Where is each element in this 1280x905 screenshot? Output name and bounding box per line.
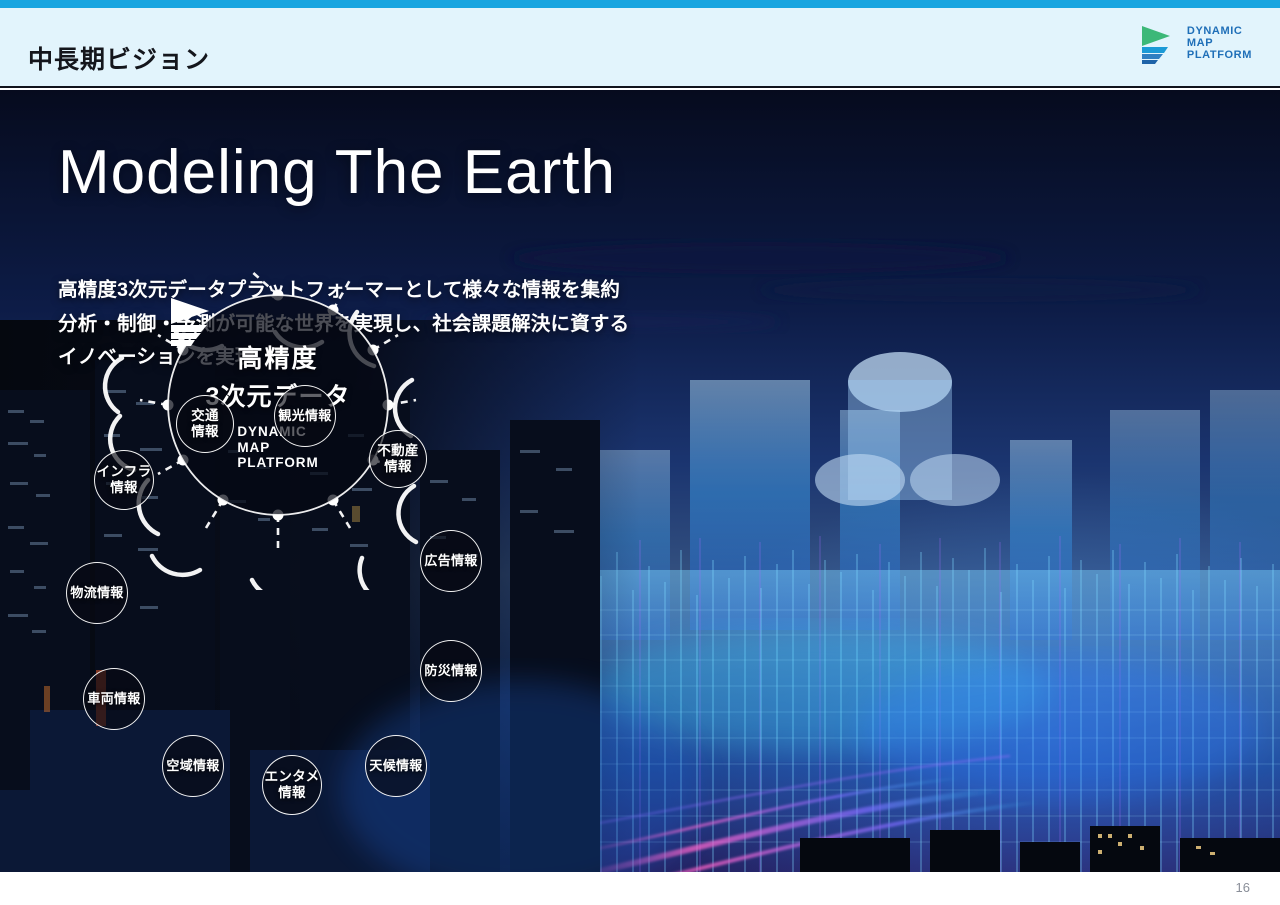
- ecosystem-diagram: 高精度 3次元データ DYNAMIC MAP PLATFORM: [0, 90, 560, 590]
- node-entertainment[interactable]: エンタメ情報: [262, 755, 322, 815]
- node-vehicle[interactable]: 車両情報: [83, 668, 145, 730]
- node-infrastructure-label: インフラ情報: [97, 464, 152, 496]
- hero-image: Modeling The Earth 高精度3次元データプラットフォーマーとして…: [0, 90, 1280, 872]
- node-traffic[interactable]: 交通情報: [176, 395, 234, 453]
- slide: 中長期ビジョン DYNAMIC MAP PLATFORM: [0, 0, 1280, 905]
- hub-brand-line-3: PLATFORM: [237, 455, 318, 471]
- slide-footer: [0, 872, 1280, 905]
- logo-mark-icon: [1140, 24, 1178, 64]
- page-number: 16: [1236, 880, 1250, 895]
- node-advertising-label: 広告情報: [424, 553, 477, 568]
- logo-line-3: PLATFORM: [1187, 50, 1252, 62]
- node-weather[interactable]: 天候情報: [365, 735, 427, 797]
- node-advertising[interactable]: 広告情報: [420, 530, 482, 592]
- node-infrastructure[interactable]: インフラ情報: [94, 450, 154, 510]
- node-disaster-label: 防災情報: [424, 663, 477, 678]
- node-traffic-label: 交通情報: [191, 408, 219, 440]
- node-disaster[interactable]: 防災情報: [420, 640, 482, 702]
- page-title: 中長期ビジョン: [28, 40, 210, 76]
- brand-logo: DYNAMIC MAP PLATFORM: [1140, 24, 1252, 64]
- node-tourism-label: 観光情報: [278, 408, 331, 423]
- node-tourism[interactable]: 観光情報: [274, 385, 336, 447]
- logo-wordmark: DYNAMIC MAP PLATFORM: [1187, 26, 1252, 62]
- hub-logo-icon: [169, 296, 217, 346]
- accent-bar: [0, 0, 1280, 8]
- node-logistics[interactable]: 物流情報: [66, 562, 128, 624]
- hub-line-1: 高精度: [237, 339, 318, 375]
- node-airspace[interactable]: 空域情報: [162, 735, 224, 797]
- node-vehicle-label: 車両情報: [87, 691, 140, 706]
- node-airspace-label: 空域情報: [166, 758, 219, 773]
- node-logistics-label: 物流情報: [70, 585, 123, 600]
- node-weather-label: 天候情報: [369, 758, 422, 773]
- node-entertainment-label: エンタメ情報: [265, 769, 320, 801]
- node-real-estate-label: 不動産情報: [377, 443, 418, 475]
- node-real-estate[interactable]: 不動産情報: [369, 430, 427, 488]
